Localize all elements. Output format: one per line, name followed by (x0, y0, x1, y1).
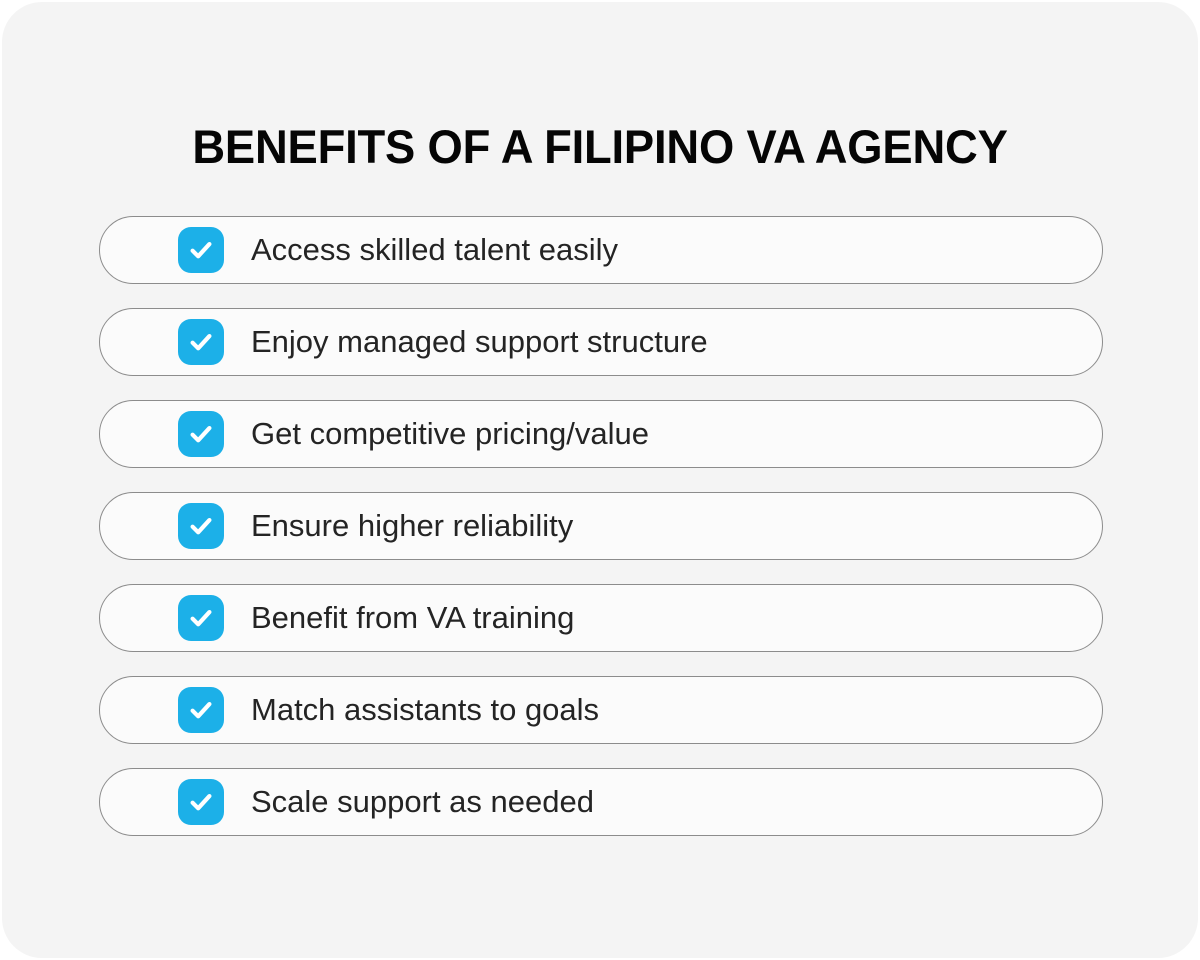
list-item[interactable]: Get competitive pricing/value (99, 400, 1103, 468)
benefits-list: Access skilled talent easily Enjoy manag… (99, 216, 1103, 836)
check-icon (178, 779, 224, 825)
check-icon (178, 687, 224, 733)
check-icon (178, 595, 224, 641)
check-icon (178, 411, 224, 457)
list-item-label: Match assistants to goals (251, 690, 599, 730)
list-item[interactable]: Match assistants to goals (99, 676, 1103, 744)
page-canvas: BENEFITS OF A FILIPINO VA AGENCY Access … (0, 0, 1200, 960)
list-item[interactable]: Benefit from VA training (99, 584, 1103, 652)
page-title: BENEFITS OF A FILIPINO VA AGENCY (23, 110, 1177, 184)
list-item[interactable]: Access skilled talent easily (99, 216, 1103, 284)
infographic-card: BENEFITS OF A FILIPINO VA AGENCY Access … (2, 2, 1198, 958)
list-item-label: Get competitive pricing/value (251, 414, 649, 454)
list-item[interactable]: Enjoy managed support structure (99, 308, 1103, 376)
list-item[interactable]: Ensure higher reliability (99, 492, 1103, 560)
check-icon (178, 503, 224, 549)
check-icon (178, 319, 224, 365)
list-item-label: Enjoy managed support structure (251, 322, 708, 362)
list-item-label: Benefit from VA training (251, 598, 574, 638)
list-item-label: Scale support as needed (251, 782, 594, 822)
list-item-label: Ensure higher reliability (251, 506, 573, 546)
list-item-label: Access skilled talent easily (251, 230, 618, 270)
list-item[interactable]: Scale support as needed (99, 768, 1103, 836)
check-icon (178, 227, 224, 273)
